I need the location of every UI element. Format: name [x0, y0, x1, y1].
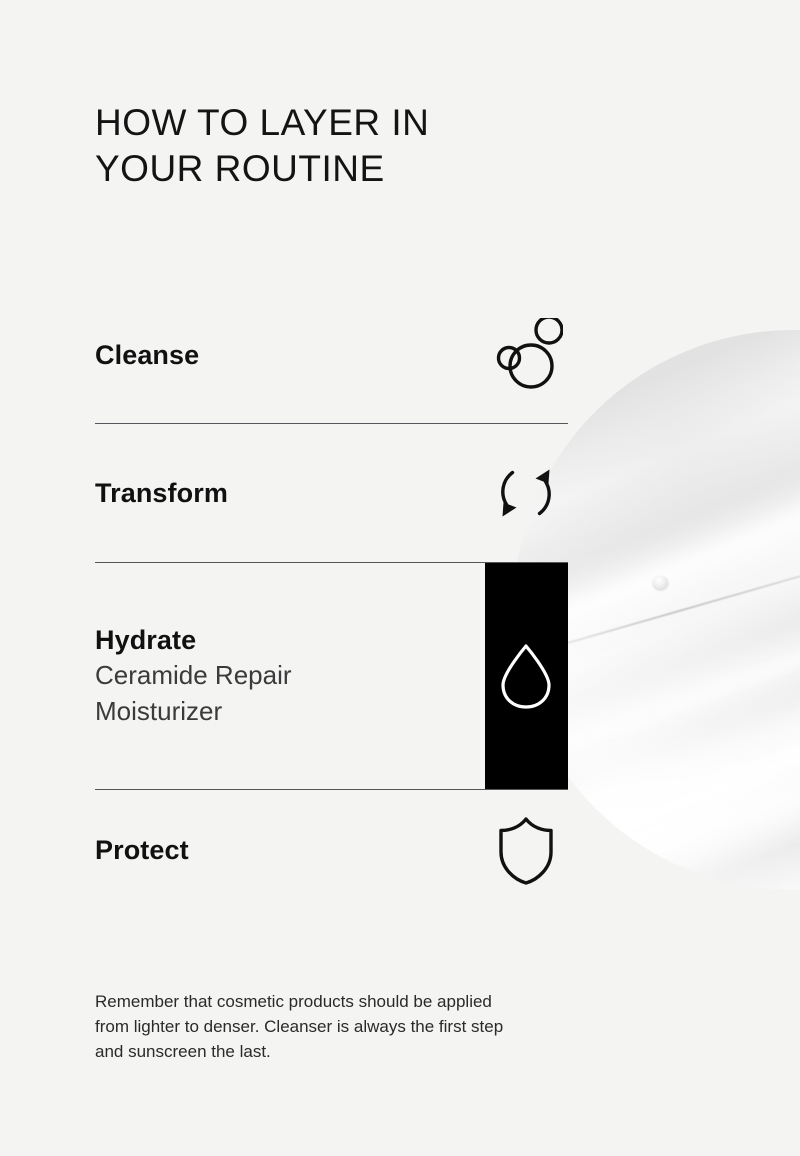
step-title-hydrate: Hydrate [95, 623, 464, 657]
step-subtitle-hydrate-line-2: Moisturizer [95, 693, 464, 729]
step-subtitle-hydrate-line-1: Ceramide Repair [95, 657, 464, 693]
page-title-line-2: YOUR ROUTINE [95, 146, 595, 192]
step-item-cleanse[interactable]: Cleanse [95, 300, 568, 424]
shield-icon [495, 814, 557, 886]
footer-note: Remember that cosmetic products should b… [95, 989, 525, 1064]
step-icon-hydrate [484, 640, 568, 712]
water-droplet-icon [495, 640, 557, 712]
page-title: HOW TO LAYER IN YOUR ROUTINE [95, 100, 595, 192]
step-title-cleanse: Cleanse [95, 338, 464, 372]
step-icon-cleanse [484, 318, 568, 392]
step-icon-transform [484, 460, 568, 526]
infographic-poster: HOW TO LAYER IN YOUR ROUTINE Cleanse Tra… [0, 0, 800, 1156]
footer-note-text: Remember that cosmetic products should b… [95, 989, 525, 1064]
step-text-transform: Transform [95, 476, 484, 510]
step-title-transform: Transform [95, 476, 464, 510]
step-item-protect[interactable]: Protect [95, 790, 568, 910]
bubbles-icon [489, 318, 563, 392]
step-icon-protect [484, 814, 568, 886]
refresh-cycle-icon [493, 460, 559, 526]
step-item-transform[interactable]: Transform [95, 424, 568, 563]
step-text-hydrate: Hydrate Ceramide Repair Moisturizer [95, 623, 484, 729]
step-title-protect: Protect [95, 833, 464, 867]
step-text-cleanse: Cleanse [95, 318, 484, 372]
step-item-hydrate[interactable]: Hydrate Ceramide Repair Moisturizer [95, 563, 568, 790]
step-text-protect: Protect [95, 833, 484, 867]
page-title-line-1: HOW TO LAYER IN [95, 100, 595, 146]
routine-steps-list: Cleanse Transform [95, 300, 568, 910]
